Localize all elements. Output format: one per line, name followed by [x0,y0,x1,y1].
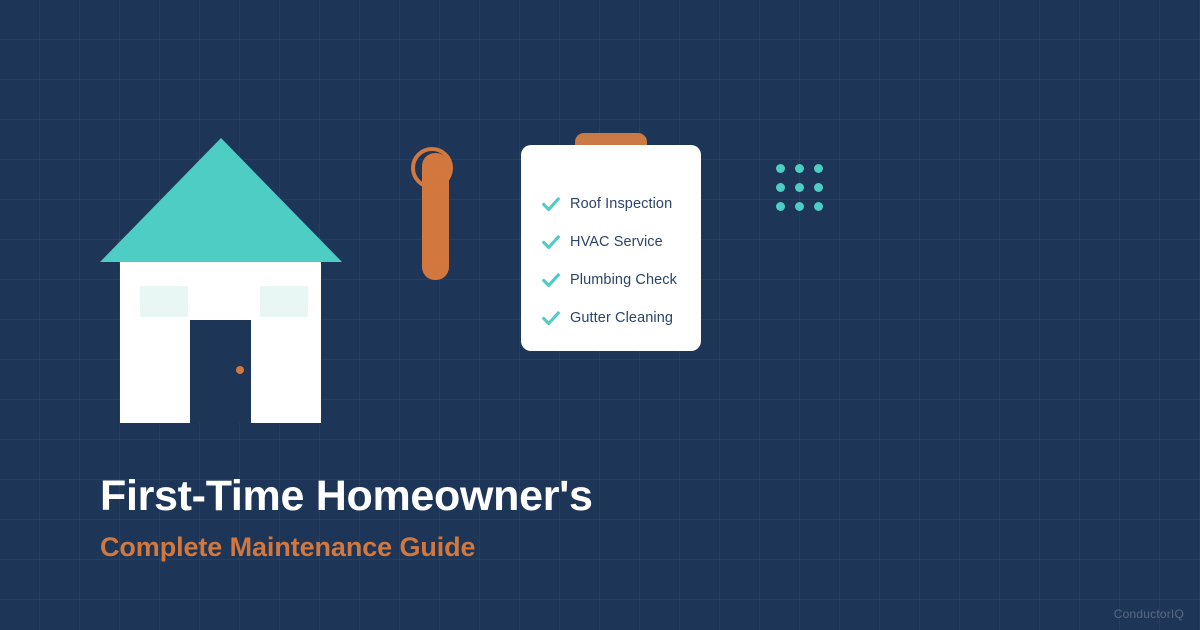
headline-block: First-Time Homeowner's Complete Maintena… [100,468,1000,564]
dot-icon [776,164,785,173]
maintenance-checklist-card: Roof Inspection HVAC Service Plumbing Ch… [521,145,701,351]
dot-grid-decoration [776,164,823,211]
check-icon [540,269,562,291]
check-icon [540,193,562,215]
poster-canvas: Roof Inspection HVAC Service Plumbing Ch… [0,0,1200,630]
check-icon [540,231,562,253]
thermometer-stem-icon [422,153,449,280]
page-title: First-Time Homeowner's [100,468,1000,524]
dot-icon [776,183,785,192]
house-door-knob-icon [236,366,244,374]
dot-icon [776,202,785,211]
brand-watermark: ConductorIQ [1114,607,1184,621]
dot-icon [795,202,804,211]
house-window-right-icon [260,286,308,317]
house-window-left-icon [140,286,188,317]
list-item[interactable]: Plumbing Check [521,261,701,299]
list-item[interactable]: Gutter Cleaning [521,299,701,337]
checklist-item-label: Roof Inspection [570,196,672,212]
house-illustration [100,138,342,423]
dot-icon [814,164,823,173]
dot-icon [814,202,823,211]
dot-icon [795,164,804,173]
check-icon [540,307,562,329]
thermometer-illustration [410,146,462,286]
list-item[interactable]: HVAC Service [521,223,701,261]
dot-icon [814,183,823,192]
house-roof-icon [100,138,342,262]
list-item[interactable]: Roof Inspection [521,185,701,223]
checklist-item-label: Gutter Cleaning [570,310,673,326]
page-subtitle: Complete Maintenance Guide [100,530,1000,564]
checklist-item-label: Plumbing Check [570,272,677,288]
dot-icon [795,183,804,192]
checklist: Roof Inspection HVAC Service Plumbing Ch… [521,145,701,351]
checklist-item-label: HVAC Service [570,234,663,250]
